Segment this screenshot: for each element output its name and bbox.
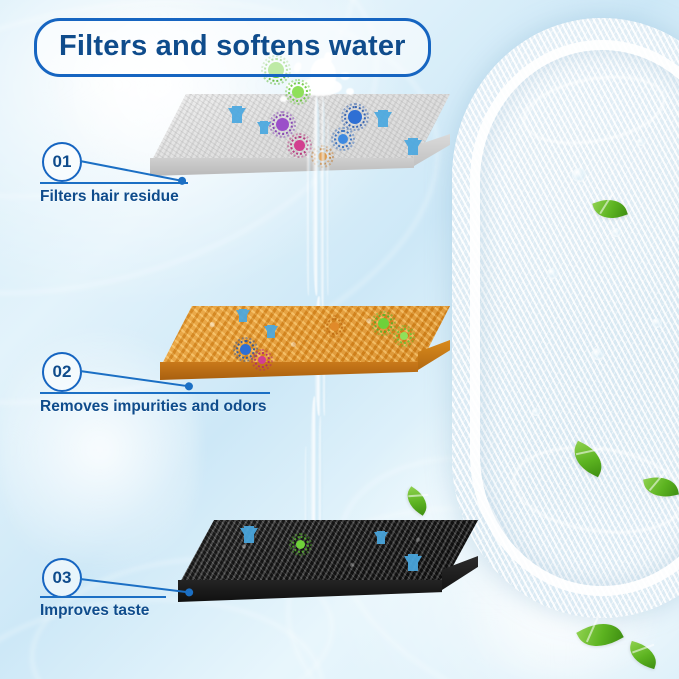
flow-arrow-icon — [240, 528, 258, 543]
layer-3-carbon — [178, 520, 478, 616]
step-badge-02: 02 — [42, 352, 82, 392]
germ-icon — [338, 134, 348, 144]
germ-icon — [348, 110, 362, 124]
germ-icon — [292, 86, 304, 98]
water-droplet — [592, 348, 604, 360]
step-caption-01: Filters hair residue — [40, 188, 179, 206]
flow-arrow-icon — [236, 310, 250, 322]
caption-underline-03 — [40, 596, 166, 598]
germ-icon — [296, 540, 305, 549]
germ-icon — [400, 332, 408, 340]
infographic-canvas: Filters and softens water 01 Filters hai… — [0, 0, 679, 679]
step-badge-03: 03 — [42, 558, 82, 598]
flow-arrow-icon — [264, 326, 278, 338]
filter-pad — [452, 18, 679, 618]
germ-icon — [378, 318, 389, 329]
layer-3-surface — [178, 520, 478, 586]
germ-icon — [294, 140, 305, 151]
step-caption-02: Removes impurities and odors — [40, 398, 267, 416]
germ-icon — [330, 322, 339, 331]
water-droplet — [532, 408, 540, 416]
layer-3-edge — [178, 580, 442, 602]
layer-2-edge — [160, 362, 418, 380]
caption-underline-02 — [40, 392, 270, 394]
water-droplet — [612, 228, 621, 237]
flow-arrow-icon — [404, 556, 422, 571]
flow-arrow-icon — [404, 140, 422, 155]
layer-2-resin — [160, 306, 450, 392]
flow-arrow-icon — [228, 108, 246, 123]
step-caption-03: Improves taste — [40, 602, 149, 620]
leaf-icon — [576, 614, 624, 656]
page-title: Filters and softens water — [34, 18, 431, 77]
germ-icon — [318, 152, 327, 161]
germ-icon — [276, 118, 289, 131]
leaf-icon — [626, 641, 661, 669]
flow-arrow-icon — [374, 532, 388, 544]
flow-arrow-icon — [374, 112, 392, 127]
flow-arrow-icon — [257, 122, 271, 134]
water-droplet — [547, 268, 558, 279]
water-droplet — [652, 318, 662, 328]
water-droplet — [572, 168, 586, 182]
germ-icon — [258, 356, 266, 364]
leaf-icon — [401, 486, 433, 515]
layer-1-edge — [150, 158, 414, 176]
leader-line-03 — [80, 578, 189, 593]
germ-icon — [240, 344, 251, 355]
caption-underline-01 — [40, 182, 188, 184]
step-badge-01: 01 — [42, 142, 82, 182]
water-droplet — [637, 138, 645, 146]
